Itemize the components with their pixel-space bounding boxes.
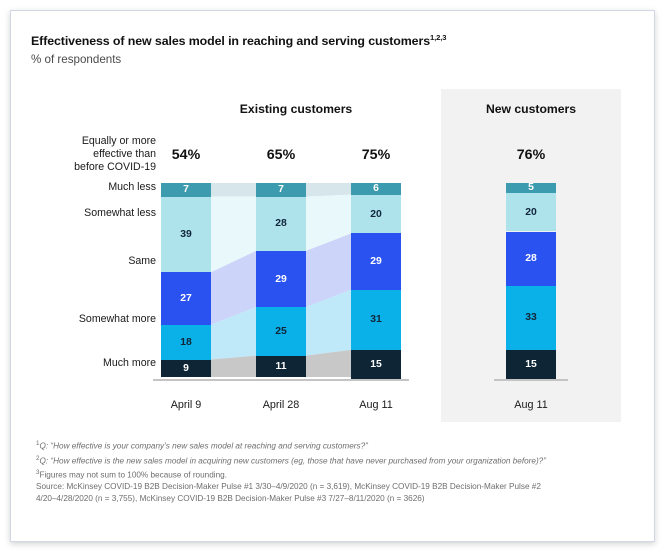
summary-percent-new-aug11: 76% bbox=[476, 147, 586, 163]
segment-value: 5 bbox=[528, 182, 534, 193]
x-axis-label-april9: April 9 bbox=[131, 399, 241, 411]
existing-april28-segment-much-more[interactable]: 11 bbox=[256, 356, 306, 377]
existing-april28-segment-somewhat-more[interactable]: 25 bbox=[256, 307, 306, 356]
segment-value: 31 bbox=[370, 314, 382, 325]
flow-ribbon-group bbox=[211, 183, 256, 377]
segment-value: 25 bbox=[275, 326, 287, 337]
new-aug11-segment-same[interactable]: 28 bbox=[506, 232, 556, 286]
segment-value: 20 bbox=[525, 207, 537, 218]
segment-value: 27 bbox=[180, 293, 192, 304]
segment-value: 33 bbox=[525, 312, 537, 323]
category-label-somewhat-less: Somewhat less bbox=[36, 207, 156, 220]
title-footnote-markers: 1,2,3 bbox=[430, 33, 446, 42]
existing-aug11-segment-somewhat-more[interactable]: 31 bbox=[351, 290, 401, 350]
existing-baseline bbox=[153, 379, 409, 381]
existing-aug11-stacked-bar[interactable]: 620293115 bbox=[351, 183, 401, 377]
new-baseline bbox=[494, 379, 568, 381]
category-label-same: Same bbox=[36, 255, 156, 268]
footnote-3: 3Figures may not sum to 100% because of … bbox=[36, 467, 636, 482]
segment-value: 6 bbox=[373, 183, 379, 194]
existing-april9-segment-much-less[interactable]: 7 bbox=[161, 183, 211, 197]
summary-percent-aug11: 75% bbox=[321, 147, 431, 163]
category-label-line-1: Equally or more bbox=[36, 135, 156, 148]
segment-value: 20 bbox=[370, 209, 382, 220]
footnote-text: Q: “How effective is the new sales model… bbox=[39, 456, 546, 465]
new-aug11-segment-much-more[interactable]: 15 bbox=[506, 350, 556, 379]
segment-value: 18 bbox=[180, 337, 192, 348]
category-label-line-3: before COVID-19 bbox=[36, 161, 156, 174]
existing-april28-segment-much-less[interactable]: 7 bbox=[256, 183, 306, 197]
new-customers-plot: 520283315 bbox=[506, 183, 556, 377]
segment-value: 15 bbox=[525, 359, 537, 370]
footnote-text: Q: “How effective is your company’s new … bbox=[39, 442, 367, 451]
source-line-1: Source: McKinsey COVID-19 B2B Decision-M… bbox=[36, 481, 636, 493]
existing-april28-segment-same[interactable]: 29 bbox=[256, 251, 306, 307]
footnote-1: 1Q: “How effective is your company’s new… bbox=[36, 438, 636, 453]
segment-value: 29 bbox=[275, 274, 287, 285]
new-aug11-segment-somewhat-more[interactable]: 33 bbox=[506, 286, 556, 350]
existing-customers-plot: 73927189728292511620293115 bbox=[161, 183, 431, 377]
existing-aug11-segment-somewhat-less[interactable]: 20 bbox=[351, 195, 401, 234]
existing-april9-segment-somewhat-more[interactable]: 18 bbox=[161, 325, 211, 360]
group-heading-new-customers: New customers bbox=[441, 102, 621, 116]
summary-percent-april28: 65% bbox=[226, 147, 336, 163]
existing-april9-segment-same[interactable]: 27 bbox=[161, 272, 211, 324]
footnotes: 1Q: “How effective is your company’s new… bbox=[36, 438, 636, 482]
source-line-2: 4/20–4/28/2020 (n = 3,755), McKinsey COV… bbox=[36, 493, 636, 505]
category-label-much-more: Much more bbox=[36, 357, 156, 370]
footnote-text: Figures may not sum to 100% because of r… bbox=[39, 471, 227, 480]
segment-value: 28 bbox=[275, 218, 287, 229]
new-aug11-segment-somewhat-less[interactable]: 20 bbox=[506, 193, 556, 232]
existing-aug11-segment-same[interactable]: 29 bbox=[351, 233, 401, 289]
existing-april9-stacked-bar[interactable]: 73927189 bbox=[161, 183, 211, 377]
segment-value: 11 bbox=[276, 361, 287, 372]
footnote-2: 2Q: “How effective is the new sales mode… bbox=[36, 453, 636, 468]
category-label-somewhat-more: Somewhat more bbox=[36, 313, 156, 326]
segment-value: 15 bbox=[370, 359, 382, 370]
existing-april28-stacked-bar[interactable]: 728292511 bbox=[256, 183, 306, 377]
source-notes: Source: McKinsey COVID-19 B2B Decision-M… bbox=[36, 481, 636, 504]
existing-april9-segment-somewhat-less[interactable]: 39 bbox=[161, 197, 211, 273]
category-label-line-2: effective than bbox=[36, 148, 156, 161]
x-axis-label-april28: April 28 bbox=[226, 399, 336, 411]
category-label-equally-or-more: Equally or more effective than before CO… bbox=[36, 135, 156, 175]
flow-ribbon-group bbox=[306, 183, 351, 377]
chart-card: Effectiveness of new sales model in reac… bbox=[10, 10, 655, 542]
x-axis-label-aug11: Aug 11 bbox=[321, 399, 431, 411]
segment-value: 29 bbox=[370, 256, 382, 267]
segment-value: 39 bbox=[180, 229, 192, 240]
existing-aug11-segment-much-less[interactable]: 6 bbox=[351, 183, 401, 195]
existing-april28-segment-somewhat-less[interactable]: 28 bbox=[256, 197, 306, 251]
existing-aug11-segment-much-more[interactable]: 15 bbox=[351, 350, 401, 379]
segment-value: 9 bbox=[183, 363, 189, 374]
new-aug11-segment-much-less[interactable]: 5 bbox=[506, 183, 556, 193]
new-aug11-stacked-bar[interactable]: 520283315 bbox=[506, 183, 556, 377]
group-heading-existing-customers: Existing customers bbox=[161, 102, 431, 116]
segment-value: 7 bbox=[183, 184, 189, 195]
segment-value: 28 bbox=[525, 253, 537, 264]
existing-april9-segment-much-more[interactable]: 9 bbox=[161, 360, 211, 377]
category-label-much-less: Much less bbox=[36, 181, 156, 194]
x-axis-label-new-aug11: Aug 11 bbox=[476, 399, 586, 411]
segment-value: 7 bbox=[278, 184, 284, 195]
